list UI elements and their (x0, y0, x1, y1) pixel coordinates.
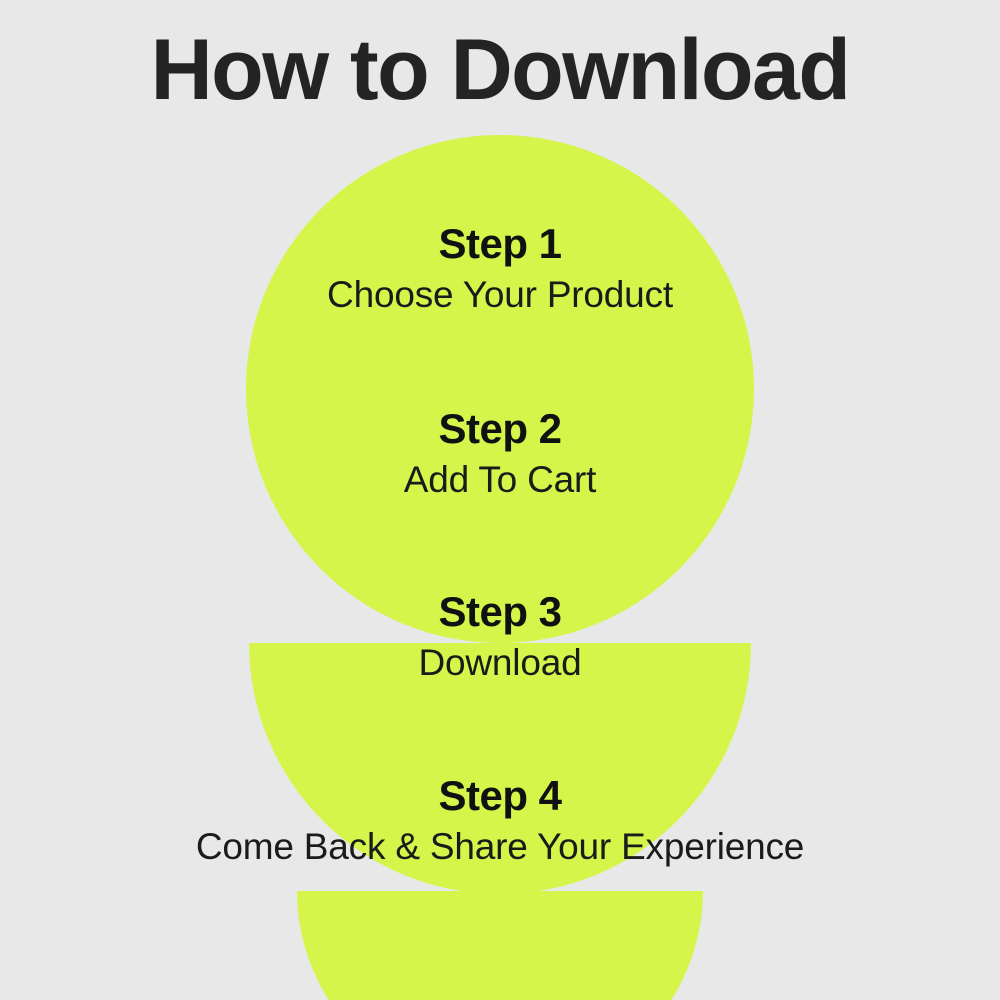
step-2-description: Add To Cart (0, 455, 1000, 505)
step-1-heading: Step 1 (0, 218, 1000, 270)
page-title: How to Download (0, 20, 1000, 120)
circle-shape-top (246, 135, 754, 643)
step-item-3: Step 3 Download (0, 586, 1000, 688)
infographic-canvas: How to Download Step 1 Choose Your Produ… (0, 0, 1000, 1000)
step-1-description: Choose Your Product (0, 270, 1000, 320)
half-circle-shape-bottom (297, 891, 703, 1000)
step-item-1: Step 1 Choose Your Product (0, 218, 1000, 320)
step-item-4: Step 4 Come Back & Share Your Experience (0, 770, 1000, 872)
step-2-heading: Step 2 (0, 403, 1000, 455)
step-4-heading: Step 4 (0, 770, 1000, 822)
step-3-heading: Step 3 (0, 586, 1000, 638)
step-item-2: Step 2 Add To Cart (0, 403, 1000, 505)
step-4-description: Come Back & Share Your Experience (0, 822, 1000, 872)
step-3-description: Download (0, 638, 1000, 688)
